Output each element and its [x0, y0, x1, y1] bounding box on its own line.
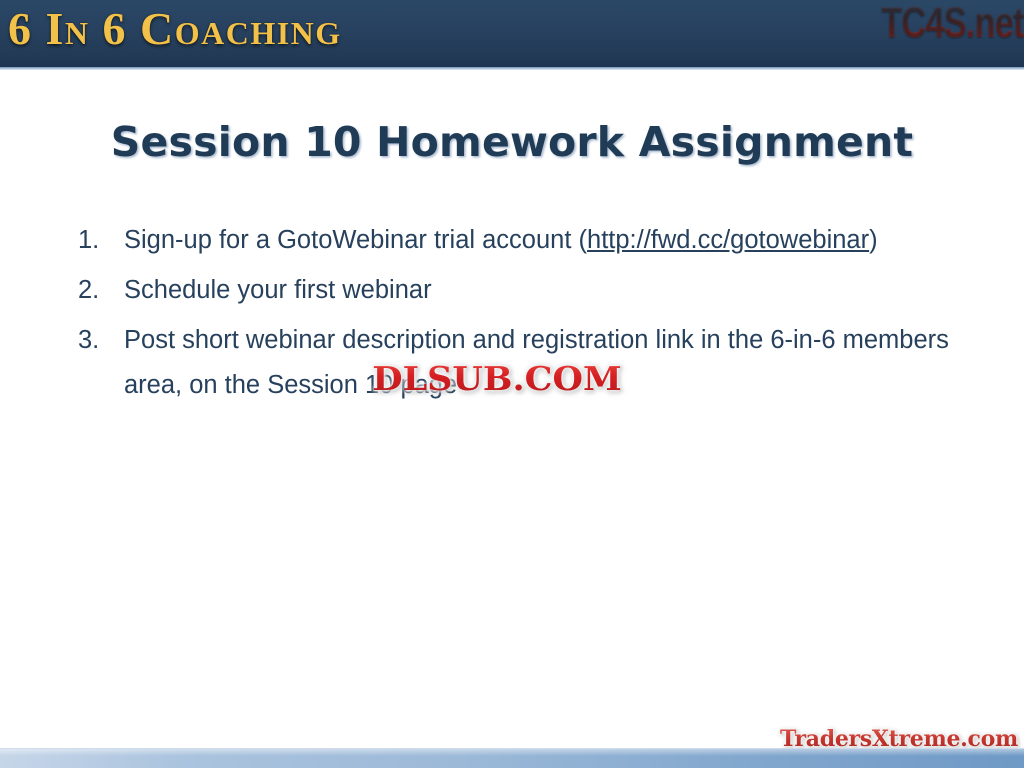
site-logo: TC4S.net [881, 0, 1024, 48]
list-item: 2. Schedule your first webinar [78, 268, 973, 313]
footer-bar [0, 748, 1024, 768]
slide-canvas: 6 In 6 Coaching TC4S.net Session 10 Home… [0, 0, 1024, 768]
list-item-number: 2. [78, 268, 124, 313]
header-banner: 6 In 6 Coaching TC4S.net [0, 0, 1024, 70]
list-item-text: Schedule your first webinar [124, 268, 973, 313]
list-item-text-after-link: ) [869, 226, 878, 254]
page-title: Session 10 Homework Assignment [0, 118, 1024, 166]
dlsub-watermark: DLSUB.COM [368, 357, 626, 400]
list-item-number: 3. [78, 318, 124, 363]
brand-logo: 6 In 6 Coaching [8, 4, 342, 55]
list-item: 1. Sign-up for a GotoWebinar trial accou… [78, 218, 973, 263]
list-item-number: 1. [78, 218, 124, 263]
list-item-text: Sign-up for a GotoWebinar trial account … [124, 218, 973, 263]
gotowebinar-link[interactable]: http://fwd.cc/gotowebinar [587, 226, 869, 254]
list-item-text-before-link: Sign-up for a GotoWebinar trial account … [124, 226, 587, 254]
